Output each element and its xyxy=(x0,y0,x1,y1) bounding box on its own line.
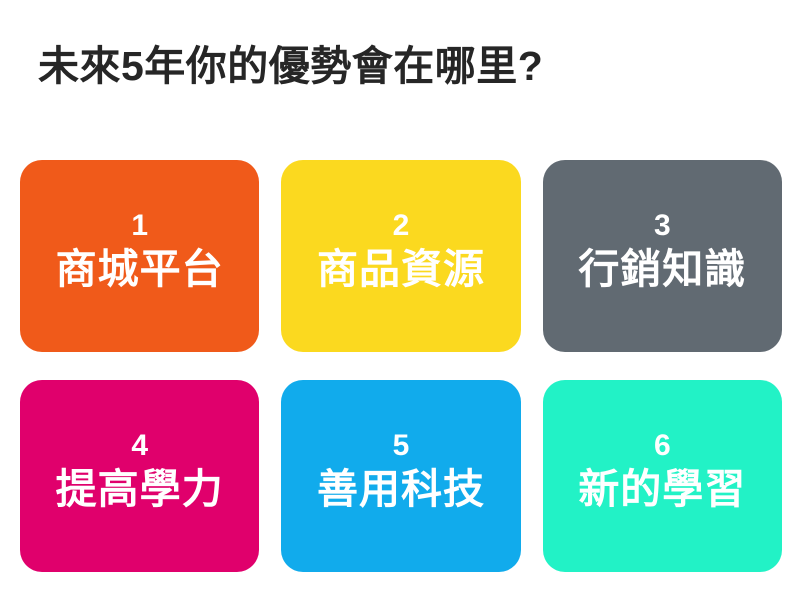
card-1[interactable]: 1 商城平台 xyxy=(20,160,259,352)
card-6-number: 6 xyxy=(654,431,671,461)
card-2-number: 2 xyxy=(393,211,410,241)
page-title: 未來5年你的優勢會在哪里? xyxy=(38,42,758,91)
card-6[interactable]: 6 新的學習 xyxy=(543,380,782,572)
card-grid: 1 商城平台 2 商品資源 3 行銷知識 4 提高學力 5 善用科技 6 新的學… xyxy=(20,160,782,572)
card-1-label: 商城平台 xyxy=(56,247,224,293)
card-4-number: 4 xyxy=(131,431,148,461)
card-4-label: 提高學力 xyxy=(56,467,224,513)
slide-canvas: 未來5年你的優勢會在哪里? 1 商城平台 2 商品資源 3 行銷知識 4 提高學… xyxy=(0,0,800,608)
card-6-label: 新的學習 xyxy=(578,467,746,513)
card-4[interactable]: 4 提高學力 xyxy=(20,380,259,572)
card-3-number: 3 xyxy=(654,211,671,241)
card-5-label: 善用科技 xyxy=(317,467,485,513)
card-2[interactable]: 2 商品資源 xyxy=(281,160,520,352)
card-3-label: 行銷知識 xyxy=(578,247,746,293)
card-2-label: 商品資源 xyxy=(317,247,485,293)
card-1-number: 1 xyxy=(131,211,148,241)
card-5-number: 5 xyxy=(393,431,410,461)
card-3[interactable]: 3 行銷知識 xyxy=(543,160,782,352)
card-5[interactable]: 5 善用科技 xyxy=(281,380,520,572)
